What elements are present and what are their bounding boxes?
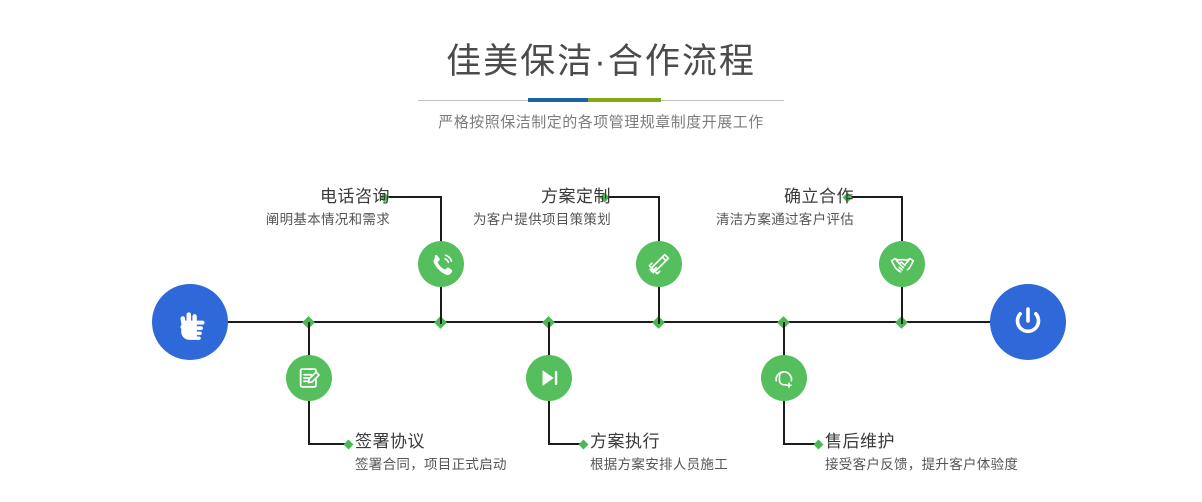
step-6-desc: 接受客户反馈，提升客户体验度 xyxy=(825,454,1018,476)
step-5-icon-node[interactable] xyxy=(879,241,925,287)
step-2-desc: 签署合同，项目正式启动 xyxy=(355,454,507,476)
customer-service-add-icon xyxy=(771,365,797,391)
step-3-horizontal-line xyxy=(605,196,659,198)
step-1-title: 电话咨询 xyxy=(266,185,390,209)
step-1-desc: 阐明基本情况和需求 xyxy=(266,209,390,231)
process-flow-infographic: 佳美保洁·合作流程 严格按照保洁制定的各项管理规章制度开展工作 xyxy=(0,0,1202,502)
step-1-horizontal-line xyxy=(385,196,441,198)
timeline-end-node[interactable] xyxy=(990,284,1066,360)
step-6-icon-node[interactable] xyxy=(761,355,807,401)
timeline: 电话咨询 阐明基本情况和需求 签署协议 签署合同，项目正式启动 xyxy=(0,0,1202,502)
step-2-icon-node[interactable] xyxy=(286,355,332,401)
step-4-title: 方案执行 xyxy=(590,430,728,454)
step-5-label: 确立合作 清洁方案通过客户评估 xyxy=(716,185,854,231)
timeline-main-line xyxy=(155,321,1047,323)
play-execute-icon xyxy=(536,365,562,391)
step-5-title: 确立合作 xyxy=(716,185,854,209)
step-2-label-marker xyxy=(344,440,354,450)
step-6-title: 售后维护 xyxy=(825,430,1018,454)
step-5-horizontal-line xyxy=(848,196,902,198)
step-3-desc: 为客户提供项目策策划 xyxy=(473,209,611,231)
power-icon xyxy=(1008,302,1048,342)
step-1-icon-node[interactable] xyxy=(418,241,464,287)
step-3-icon-node[interactable] xyxy=(636,241,682,287)
step-4-label-marker xyxy=(579,440,589,450)
step-3-label: 方案定制 为客户提供项目策策划 xyxy=(473,185,611,231)
step-4-icon-node[interactable] xyxy=(526,355,572,401)
step-2-title: 签署协议 xyxy=(355,430,507,454)
step-2-horizontal-line xyxy=(308,443,348,445)
phone-call-icon xyxy=(428,251,455,278)
step-6-label-marker xyxy=(814,440,824,450)
pointing-hand-icon xyxy=(169,301,211,343)
step-6-label: 售后维护 接受客户反馈，提升客户体验度 xyxy=(825,430,1018,476)
document-edit-icon xyxy=(296,365,322,391)
step-4-desc: 根据方案安排人员施工 xyxy=(590,454,728,476)
pencil-ruler-icon xyxy=(646,251,672,277)
handshake-icon xyxy=(889,251,916,278)
step-4-label: 方案执行 根据方案安排人员施工 xyxy=(590,430,728,476)
step-5-desc: 清洁方案通过客户评估 xyxy=(716,209,854,231)
step-1-label: 电话咨询 阐明基本情况和需求 xyxy=(266,185,390,231)
step-2-label: 签署协议 签署合同，项目正式启动 xyxy=(355,430,507,476)
step-3-title: 方案定制 xyxy=(473,185,611,209)
timeline-start-node[interactable] xyxy=(152,284,228,360)
